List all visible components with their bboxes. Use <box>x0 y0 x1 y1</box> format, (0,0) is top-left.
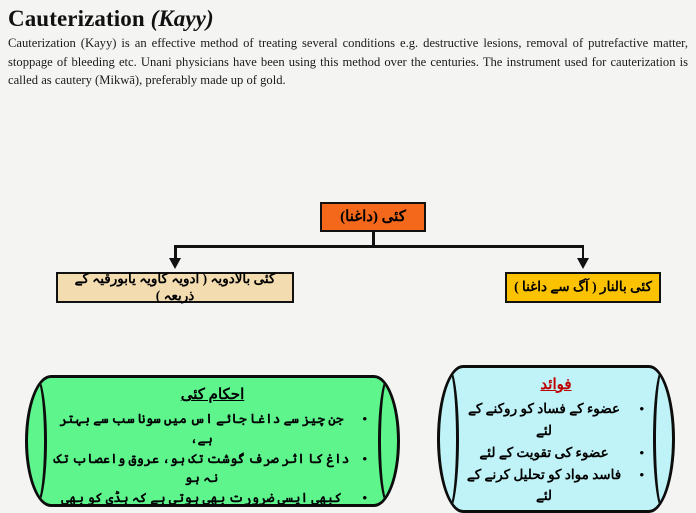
diagram-node-branch-left-label: کئی بالادویہ ( ادویہ کاویہ یابورقیہ کے ذ… <box>58 271 292 305</box>
list-item: جن چیز سے داغا جائے اس میں سونا سب سے بہ… <box>52 409 367 449</box>
intro-paragraph: Cauterization (Kayy) is an effective met… <box>8 34 688 90</box>
panel-benefits-list: عضوء کے فساد کو روکنے کے لئے عضوء کی تقو… <box>460 398 644 513</box>
page-title-term: (Kayy) <box>151 6 214 31</box>
panel-benefits: فوائد عضوء کے فساد کو روکنے کے لئے عضوء … <box>437 365 675 513</box>
diagram-node-root-label: کئی (داغنا) <box>340 208 406 227</box>
diagram-node-root: کئی (داغنا) <box>320 202 426 232</box>
diagram-node-branch-left: کئی بالادویہ ( ادویہ کاویہ یابورقیہ کے ذ… <box>56 272 294 303</box>
list-item: عضوء کے فساد کو روکنے کے لئے <box>460 398 644 442</box>
panel-rules-heading: احکام کئی <box>28 378 397 404</box>
list-item: عضوء کی تقویت کے لئے <box>460 442 644 464</box>
cauterization-flow-diagram: کئی (داغنا) کئی بالادویہ ( ادویہ کاویہ ی… <box>0 102 696 438</box>
arrow-head-left-icon <box>169 258 181 269</box>
panel-benefits-heading: فوائد <box>440 368 672 394</box>
panel-rules: احکام کئی جن چیز سے داغا جائے اس میں سون… <box>25 375 400 507</box>
connector-drop-right <box>582 245 585 259</box>
page-title-main: Cauterization <box>8 6 151 31</box>
diagram-node-branch-right: کئی بالنار ( آگ سے داغنا ) <box>505 272 661 303</box>
page-title: Cauterization (Kayy) <box>8 6 696 31</box>
arrow-head-right-icon <box>577 258 589 269</box>
list-item: جریان الدم کو روکنے کے لئے <box>460 507 644 513</box>
connector-horizontal-bar <box>174 245 584 248</box>
connector-drop-left <box>174 245 177 259</box>
panel-rules-list: جن چیز سے داغا جائے اس میں سونا سب سے بہ… <box>52 409 367 507</box>
diagram-node-branch-right-label: کئی بالنار ( آگ سے داغنا ) <box>514 279 652 296</box>
list-item: کبھی ایسی ضرورت بھی ہوتی ہے کہ ہڈی کو بھ… <box>52 488 367 507</box>
list-item: فاسد مواد کو تحلیل کرنے کے لئے <box>460 464 644 508</box>
list-item: داغ کا اثر صرف گوشت تک ہو، عروق واعصاب ت… <box>52 449 367 489</box>
